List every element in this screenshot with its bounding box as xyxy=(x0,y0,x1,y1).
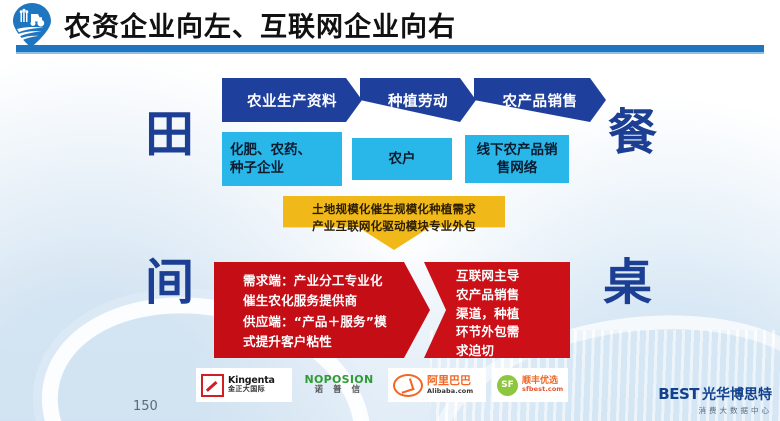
conclusion-left-line-2: 催生农化服务提供商 xyxy=(243,291,403,311)
side-label-top-right: 餐 xyxy=(608,108,657,157)
actor-box-1: 化肥、农药、种子企业 xyxy=(222,132,342,186)
logo-noposion-cn: 诺 普 信 xyxy=(301,386,377,396)
logo-noposion: NOPOSION 诺 普 信 xyxy=(296,368,382,402)
conclusion-left-line-4: 式提升客户粘性 xyxy=(243,332,403,352)
actor-box-1-label: 化肥、农药、种子企业 xyxy=(230,141,311,177)
actor-box-3-label: 线下农产品销售网络 xyxy=(477,141,558,177)
conclusion-right-text: 互联网主导 农产品销售 渠道，种植 环节外包需 求迫切 xyxy=(456,267,556,361)
sfbest-sun-icon: SF xyxy=(497,375,518,396)
header-divider-light xyxy=(16,52,764,54)
page-number: 150 xyxy=(133,399,158,414)
conclusion-right-line-5: 求迫切 xyxy=(456,342,556,361)
brand-name: 光华博思特 xyxy=(702,384,772,404)
actor-box-2-label: 农户 xyxy=(389,150,416,168)
conclusion-right-line-3: 渠道，种植 xyxy=(456,305,556,324)
chevron-step-1: 农业生产资料 xyxy=(222,78,362,122)
callout-banner: 土地规模化催生规模化种植需求 产业互联网化驱动模块专业外包 xyxy=(283,196,505,250)
conclusion-left-line-1: 需求端：产业分工专业化 xyxy=(243,271,403,291)
corner-brand: BEST 光华博思特 消费大数据中心 xyxy=(658,384,772,416)
header-divider xyxy=(16,45,764,52)
callout-line-2: 产业互联网化驱动模块专业外包 xyxy=(283,218,505,235)
farm-tractor-pin-icon xyxy=(9,2,55,48)
logo-kingenta: Kingenta 金正大国际 xyxy=(196,368,292,402)
actor-box-2: 农户 xyxy=(352,138,452,180)
logo-alibaba-en: Alibaba.com xyxy=(427,388,473,395)
side-label-top-left: 田 xyxy=(145,110,194,159)
partner-logo-strip: Kingenta 金正大国际 NOPOSION 诺 普 信 阿里巴巴 Aliba… xyxy=(196,368,568,402)
conclusion-left: 需求端：产业分工专业化 催生农化服务提供商 供应端：“产品＋服务”模 式提升客户… xyxy=(214,262,430,358)
brand-mark: BEST xyxy=(658,385,699,403)
side-label-bottom-left: 间 xyxy=(145,258,194,307)
kingenta-square-icon xyxy=(201,374,224,397)
callout-line-1: 土地规模化催生规模化种植需求 xyxy=(283,201,505,218)
slide-root: 农资企业向左、互联网企业向右 田 间 餐 桌 农业生产资料 种植劳动 农产品销售… xyxy=(0,0,780,421)
logo-alibaba-cn: 阿里巴巴 xyxy=(427,375,473,388)
slide-header: 农资企业向左、互联网企业向右 xyxy=(0,0,780,52)
callout-text: 土地规模化催生规模化种植需求 产业互联网化驱动模块专业外包 xyxy=(283,201,505,234)
conclusion-left-text: 需求端：产业分工专业化 催生农化服务提供商 供应端：“产品＋服务”模 式提升客户… xyxy=(243,271,403,352)
side-label-bottom-right: 桌 xyxy=(603,258,652,307)
logo-sfbest-en: sfbest.com xyxy=(522,386,563,393)
brand-subtitle: 消费大数据中心 xyxy=(658,405,772,416)
conclusion-right-line-1: 互联网主导 xyxy=(456,267,556,286)
actor-box-3: 线下农产品销售网络 xyxy=(465,135,569,183)
conclusion-right-line-2: 农产品销售 xyxy=(456,286,556,305)
logo-alibaba: 阿里巴巴 Alibaba.com xyxy=(388,368,486,402)
conclusion-right-line-4: 环节外包需 xyxy=(456,323,556,342)
logo-kingenta-cn: 金正大国际 xyxy=(228,386,275,394)
logo-sfbest: SF 顺丰优选 sfbest.com xyxy=(492,368,568,402)
page-title: 农资企业向左、互联网企业向右 xyxy=(64,5,456,44)
conclusion-left-line-3: 供应端：“产品＋服务”模 xyxy=(243,312,403,332)
alibaba-circle-icon xyxy=(393,374,423,397)
